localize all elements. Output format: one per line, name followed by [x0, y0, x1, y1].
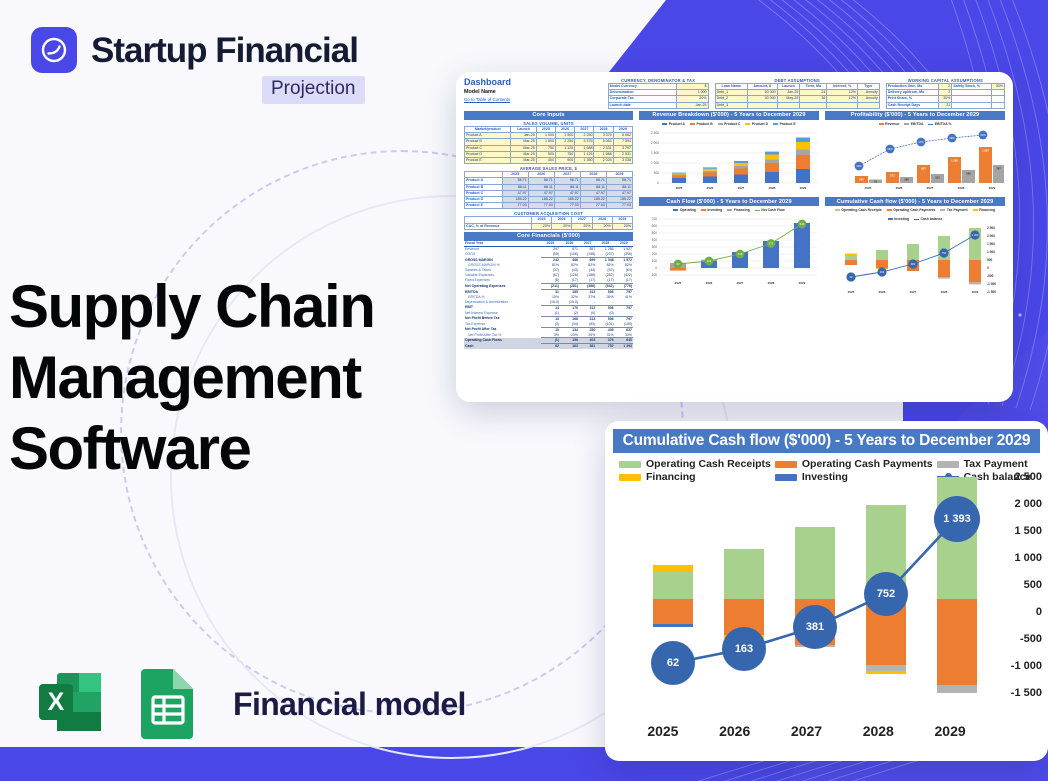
legend-swatch	[745, 123, 750, 125]
legend-label: EBITDA %	[935, 122, 951, 126]
y-tick: -1 000	[1011, 660, 1042, 672]
svg-text:2025: 2025	[865, 186, 872, 190]
data-point-2028: 752	[864, 572, 908, 616]
svg-text:-500: -500	[987, 274, 994, 278]
legend-item: Product D	[745, 122, 768, 126]
table-row: Cash Receipt Days21	[886, 102, 1004, 108]
cell	[952, 102, 991, 108]
cell: 21	[938, 102, 951, 108]
legend-item: Product B	[690, 122, 713, 126]
badge-label: Financial model	[233, 686, 466, 723]
svg-text:101: 101	[707, 259, 712, 263]
svg-text:2028: 2028	[941, 290, 948, 294]
cumulative-cash-flow-mini-chart: 62163381 7521 393 2 5002 0001 500 1 0005…	[825, 222, 1005, 296]
cell: 163	[560, 344, 579, 349]
cell: Cash Receipt Days	[886, 102, 938, 108]
legend-swatch	[718, 123, 723, 125]
cell: 752	[596, 344, 614, 349]
svg-text:0: 0	[657, 181, 659, 185]
svg-text:506: 506	[966, 171, 971, 175]
legend-label: Cash balance	[921, 217, 943, 221]
legend-item: Investing	[701, 208, 722, 212]
legend-item: Cash balance	[914, 217, 942, 221]
svg-text:X: X	[48, 688, 65, 716]
legend-item: EBITDA	[904, 122, 923, 126]
legend-label: Operating	[680, 208, 696, 212]
chart-title: Cumulative Cash flow ($'000) - 5 Years t…	[613, 429, 1040, 453]
y-tick: 500	[1024, 579, 1042, 591]
legend-label: Product C	[724, 122, 740, 126]
svg-text:2029: 2029	[972, 290, 979, 294]
svg-text:2028: 2028	[958, 186, 965, 190]
cell: 1 393	[615, 344, 633, 349]
svg-text:2026: 2026	[706, 281, 713, 285]
wc-table: Production time, Mo2Safety Stock, %30%De…	[886, 83, 1005, 109]
legend-label: Revenue	[885, 122, 899, 126]
avg-price-table: 20252026202720282029 Product A58.7158.71…	[464, 171, 633, 209]
model-name: Model Name	[464, 89, 602, 95]
currency-block-header: CURRENCY, DENOMINATOR & TAX	[608, 78, 709, 83]
page-title: Supply Chain Management Software	[9, 272, 429, 484]
svg-text:31: 31	[874, 179, 877, 183]
cash-flow-chart: 700600500 400300200 1000-100	[639, 213, 819, 287]
cac-table: 20252026202720282029 CAC, % of Revenue20…	[464, 216, 633, 229]
svg-text:-1 500: -1 500	[987, 290, 996, 294]
svg-text:1 393: 1 393	[972, 233, 979, 237]
legend-label: EBITDA	[911, 122, 924, 126]
legend-swatch	[928, 124, 933, 125]
revenue-breakdown-chart: 2 5002 000 1 5001 000 5000	[639, 127, 819, 193]
cell: 20%	[592, 223, 612, 229]
format-badges: X Financial model	[31, 663, 466, 746]
cell	[827, 102, 858, 108]
legend-item-operating-cash-receipts: Operating Cash Receipts	[619, 458, 771, 470]
legend-swatch	[701, 209, 706, 211]
legend-item: Investing	[888, 217, 909, 221]
svg-text:1 000: 1 000	[651, 161, 659, 165]
legend-item: Revenue	[879, 122, 900, 126]
core-financials-table: Fiscal Year20252026202720282029 Revenue2…	[464, 241, 633, 349]
cell	[747, 102, 777, 108]
svg-text:300: 300	[652, 245, 658, 249]
google-sheets-icon	[131, 663, 203, 746]
y-tick: -500	[1020, 633, 1042, 645]
svg-text:1 285: 1 285	[951, 159, 958, 163]
table-row: Product EMar-254009001 3502 0253 038	[465, 158, 633, 164]
svg-text:2026: 2026	[879, 290, 886, 294]
cell: 77.03	[528, 203, 554, 209]
svg-text:62: 62	[850, 275, 853, 279]
svg-text:-1 000: -1 000	[987, 282, 996, 286]
legend-swatch	[973, 209, 978, 211]
cash-flow-legend: OperatingInvestingFinancingNet Cash Flow	[639, 208, 819, 212]
x-tick: 2028	[842, 723, 914, 739]
legend-label: Tax Payment	[947, 208, 968, 212]
svg-text:2028: 2028	[769, 186, 776, 190]
y-tick: 1 500	[1014, 525, 1042, 537]
dashboard-heading: Dashboard	[464, 78, 602, 87]
cell: Product E	[465, 158, 511, 164]
x-tick: 2029	[914, 723, 986, 739]
svg-text:700: 700	[652, 217, 658, 221]
svg-text:2025: 2025	[848, 290, 855, 294]
cell	[800, 102, 827, 108]
y-tick: 2 500	[1014, 471, 1042, 483]
legend-label: Product A	[669, 122, 685, 126]
legend-swatch	[662, 123, 667, 125]
core-inputs-banner: Core Inputs	[464, 111, 633, 120]
poster-root: Startup Financial Projection Supply Chai…	[0, 0, 1048, 781]
cell: 77.03	[580, 203, 606, 209]
currency-table: Model Currency$Denomination1 000Corporat…	[608, 83, 709, 109]
cell: 381	[579, 344, 596, 349]
cell: 62	[541, 344, 560, 349]
svg-text:2 500: 2 500	[987, 226, 995, 230]
brand-subtitle: Projection	[262, 76, 365, 104]
microsoft-excel-icon: X	[31, 663, 109, 746]
cell	[777, 102, 800, 108]
cell: 1 350	[575, 158, 594, 164]
svg-text:381: 381	[911, 262, 916, 266]
legend-item: Product C	[718, 122, 741, 126]
x-tick: 2027	[771, 723, 843, 739]
svg-text:2028: 2028	[768, 281, 775, 285]
excel-dashboard: Dashboard Model Name Go to Table of Cont…	[456, 72, 1013, 402]
legend-label: Investing	[894, 217, 909, 221]
svg-text:400: 400	[652, 238, 658, 242]
svg-text:0: 0	[655, 266, 657, 270]
cell	[858, 102, 880, 108]
legend-item: Operating	[673, 208, 696, 212]
brand-logo: Startup Financial	[31, 27, 358, 73]
svg-text:752: 752	[942, 251, 947, 255]
profitability-title: Profitability ($'000) - 5 Years to Decem…	[825, 111, 1005, 120]
cell: Mar-25	[511, 158, 536, 164]
table-row: Cash621633817521 393	[464, 344, 633, 349]
data-point-2025: 62	[651, 641, 695, 685]
svg-text:640: 640	[800, 222, 805, 226]
svg-text:41%: 41%	[980, 133, 986, 137]
y-tick: 0	[1036, 606, 1042, 618]
legend-item: Tax Payment	[940, 208, 967, 212]
legend-label: Operating Cash Payments	[802, 458, 933, 470]
legend-label: Financing	[734, 208, 750, 212]
svg-text:2025: 2025	[676, 186, 683, 190]
legend-label: Operating Cash Receipts	[646, 458, 771, 470]
legend-label: Operating Cash Payments	[893, 208, 935, 212]
svg-text:500: 500	[987, 258, 993, 262]
legend-label: Product D	[752, 122, 768, 126]
svg-text:10%: 10%	[856, 164, 862, 168]
cell: 20%	[572, 223, 592, 229]
cell: Launch date	[608, 102, 676, 108]
revenue-breakdown-title: Revenue Breakdown ($'000) - 5 Years to D…	[639, 111, 819, 120]
svg-text:600: 600	[652, 224, 658, 228]
cell: 77.03	[606, 203, 632, 209]
svg-text:313: 313	[935, 175, 940, 179]
legend-item-operating-cash-payments: Operating Cash Payments	[775, 458, 933, 470]
brand-title: Startup Financial	[91, 33, 358, 68]
legend-label: Operating Cash Receipts	[841, 208, 881, 212]
svg-text:2027: 2027	[737, 281, 744, 285]
svg-text:500: 500	[652, 231, 658, 235]
svg-text:39%: 39%	[949, 136, 955, 140]
svg-text:2025: 2025	[675, 281, 682, 285]
legend-swatch	[773, 123, 778, 125]
cumulative-cash-flow-card[interactable]: Cumulative Cash flow ($'000) - 5 Years t…	[605, 421, 1048, 761]
svg-text:1 927: 1 927	[982, 149, 989, 153]
svg-text:218: 218	[738, 252, 743, 256]
legend-swatch	[835, 209, 840, 211]
legend-swatch	[887, 209, 892, 211]
svg-text:297: 297	[859, 178, 864, 182]
toc-link[interactable]: Go to Table of Contents	[464, 97, 602, 102]
legend-swatch	[879, 123, 884, 125]
revenue-breakdown-legend: Product AProduct BProduct CProduct DProd…	[639, 122, 819, 126]
svg-text:200: 200	[652, 252, 658, 256]
cell: 3 038	[613, 158, 632, 164]
y-tick: 1 000	[1014, 552, 1042, 564]
cell: 400	[536, 158, 555, 164]
sales-volume-table: Market/productLaunch20252026202720282029…	[464, 126, 633, 164]
legend-swatch	[914, 219, 919, 220]
dashboard-preview-card[interactable]: Dashboard Model Name Go to Table of Cont…	[456, 72, 1013, 402]
svg-text:1 000: 1 000	[987, 250, 995, 254]
core-financials-banner: Core Financials ($'000)	[464, 232, 633, 241]
legend-label: Financing	[979, 208, 995, 212]
svg-text:2 000: 2 000	[987, 234, 995, 238]
debt-table: Loan NameAmount, $LaunchTerm, MoInterest…	[715, 83, 880, 109]
svg-text:2 000: 2 000	[651, 141, 659, 145]
cumulative-cash-flow-mini-legend: Operating Cash ReceiptsOperating Cash Pa…	[825, 208, 1005, 221]
cell: Product E	[465, 203, 503, 209]
cell: 900	[555, 158, 574, 164]
legend-item: Financing	[727, 208, 750, 212]
legend-swatch	[727, 209, 732, 211]
chart-plot-area: 62 163 381 752 1 393 2 500 2 000 1 500 1…	[627, 495, 986, 685]
legend-swatch	[940, 209, 945, 211]
cell: Jan-25	[676, 102, 708, 108]
svg-text:-100: -100	[651, 273, 658, 277]
legend-swatch	[888, 218, 893, 220]
svg-text:2027: 2027	[910, 290, 917, 294]
svg-text:2 500: 2 500	[651, 131, 659, 135]
svg-text:0: 0	[987, 266, 989, 270]
svg-text:571: 571	[890, 174, 895, 178]
svg-text:2027: 2027	[927, 186, 934, 190]
legend-label: Product E	[780, 122, 796, 126]
table-row: Product E77.0377.0377.0377.0377.03	[465, 203, 633, 209]
chart-x-axis: 2025 2026 2027 2028 2029	[627, 723, 986, 739]
table-row: Debt_3	[715, 102, 879, 108]
svg-text:100: 100	[652, 259, 658, 263]
legend-item: Operating Cash Receipts	[835, 208, 882, 212]
cell: 20%	[612, 223, 632, 229]
table-row: CAC, % of Revenue20%20%20%20%20%	[465, 223, 633, 229]
legend-swatch	[904, 123, 909, 125]
legend-label: Net Cash Flow	[761, 208, 784, 212]
legend-swatch	[673, 209, 678, 211]
legend-item: Product A	[662, 122, 685, 126]
cell: 20%	[552, 223, 572, 229]
svg-text:163: 163	[880, 270, 885, 274]
x-tick: 2025	[627, 723, 699, 739]
svg-text:37%: 37%	[918, 140, 924, 144]
cell: 77.03	[554, 203, 580, 209]
svg-text:2026: 2026	[707, 186, 714, 190]
bar-2025	[653, 565, 693, 627]
cell: 20%	[531, 223, 551, 229]
x-tick: 2026	[699, 723, 771, 739]
table-row: Launch dateJan-25	[608, 102, 708, 108]
svg-text:32%: 32%	[887, 147, 893, 151]
svg-text:2026: 2026	[896, 186, 903, 190]
svg-text:371: 371	[769, 242, 774, 246]
cumulative-cash-flow-mini-title: Cumulative Cash flow ($'000) - 5 Years t…	[825, 197, 1005, 206]
y-tick: 2 000	[1014, 498, 1042, 510]
cell	[991, 102, 1004, 108]
svg-text:1 500: 1 500	[987, 242, 995, 246]
legend-label: Investing	[707, 208, 722, 212]
svg-text:2029: 2029	[799, 281, 806, 285]
cell: Cash	[464, 344, 541, 349]
legend-item: Operating Cash Payments	[887, 208, 936, 212]
y-tick: -1 500	[1011, 687, 1042, 699]
svg-text:500: 500	[654, 171, 660, 175]
svg-text:62: 62	[676, 262, 680, 266]
legend-swatch	[690, 123, 695, 125]
legend-item: Financing	[973, 208, 996, 212]
svg-text:1 500: 1 500	[651, 151, 659, 155]
profitability-legend: RevenueEBITDAEBITDA %	[825, 122, 1005, 126]
svg-text:797: 797	[996, 166, 1001, 170]
chart-y-axis: 2 500 2 000 1 500 1 000 500 0 -500 -1 00…	[988, 469, 1046, 715]
svg-text:2027: 2027	[738, 186, 745, 190]
cash-flow-title: Cash Flow ($'000) - 5 Years to December …	[639, 197, 819, 206]
svg-text:2029: 2029	[800, 186, 807, 190]
cell: Debt_3	[715, 102, 747, 108]
svg-text:185: 185	[904, 177, 909, 181]
data-point-2027: 381	[793, 605, 837, 649]
data-point-2029: 1 393	[934, 496, 980, 542]
profitability-chart: 297571 8571 285 1 927 31185 313506 797	[825, 127, 1005, 193]
bar-2026	[724, 549, 764, 639]
legend-item: Product E	[773, 122, 796, 126]
legend-label: Product B	[696, 122, 712, 126]
data-point-2026: 163	[722, 627, 766, 671]
svg-text:857: 857	[921, 167, 926, 171]
svg-text:2029: 2029	[989, 186, 996, 190]
legend-item: EBITDA %	[928, 122, 951, 126]
legend-swatch	[755, 210, 760, 211]
circular-e-logo-icon	[31, 27, 77, 73]
legend-item: Net Cash Flow	[755, 208, 785, 212]
cell: 2 025	[594, 158, 613, 164]
cell: 77.03	[502, 203, 528, 209]
cell: CAC, % of Revenue	[465, 223, 532, 229]
